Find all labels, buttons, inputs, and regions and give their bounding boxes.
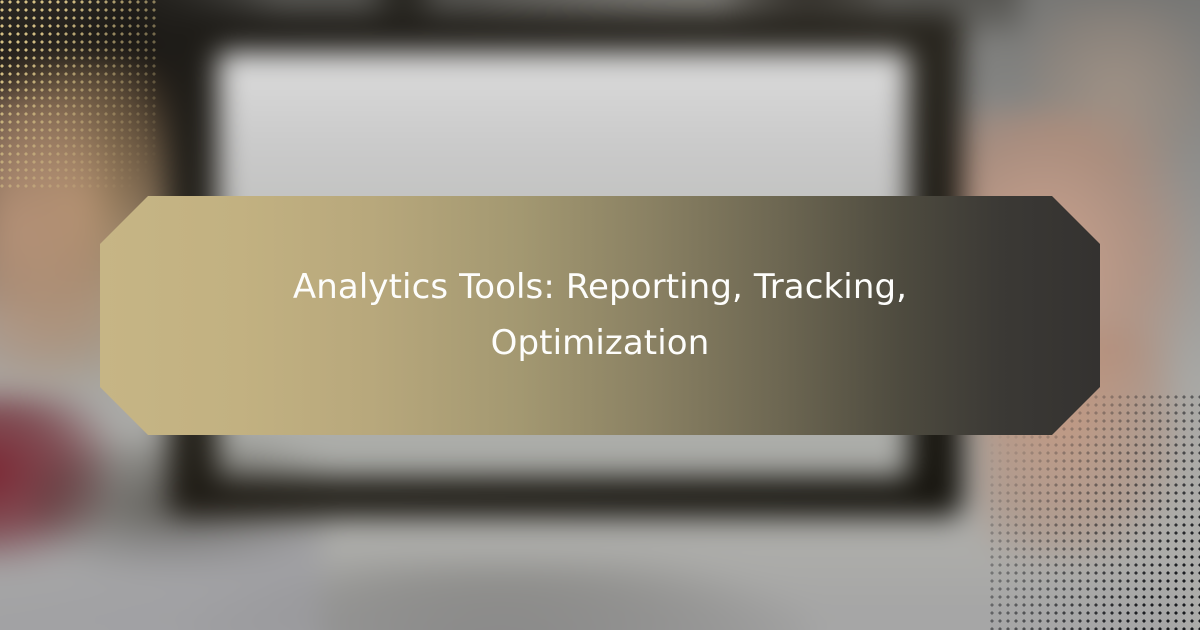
title-banner: Analytics Tools: Reporting, Tracking, Op…: [100, 196, 1100, 435]
page-title: Analytics Tools: Reporting, Tracking, Op…: [260, 260, 940, 370]
share-card: Analytics Tools: Reporting, Tracking, Op…: [0, 0, 1200, 630]
photo-desk-foreground: [0, 550, 1190, 630]
photo-hand-left: [0, 90, 100, 390]
